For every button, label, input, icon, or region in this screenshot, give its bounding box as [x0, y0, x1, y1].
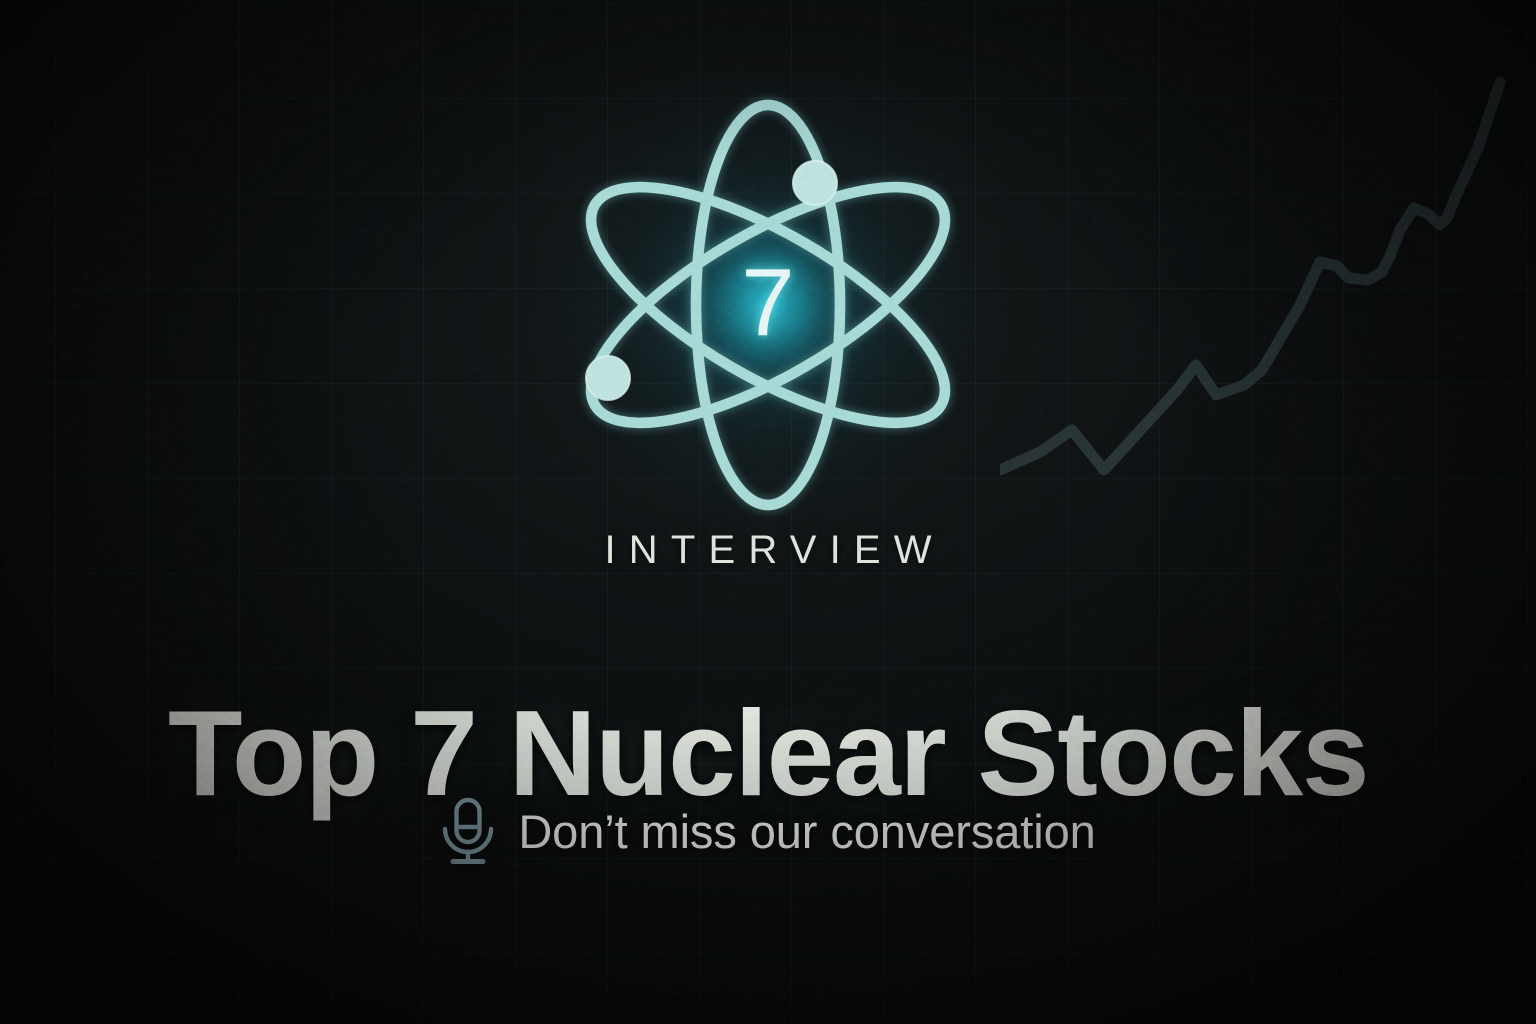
eyebrow-label: INTERVIEW	[0, 528, 1536, 573]
atom-center-number: 7	[553, 90, 983, 520]
promo-card: 7 INTERVIEW Top 7 Nuclear Stocks Don’t m…	[0, 0, 1536, 1024]
microphone-capsule	[457, 800, 480, 842]
subtitle-row: Don’t miss our conversation	[0, 796, 1536, 866]
microphone-icon	[440, 796, 496, 866]
subtitle-text: Don’t miss our conversation	[518, 808, 1095, 855]
atom-emblem: 7	[553, 90, 983, 520]
